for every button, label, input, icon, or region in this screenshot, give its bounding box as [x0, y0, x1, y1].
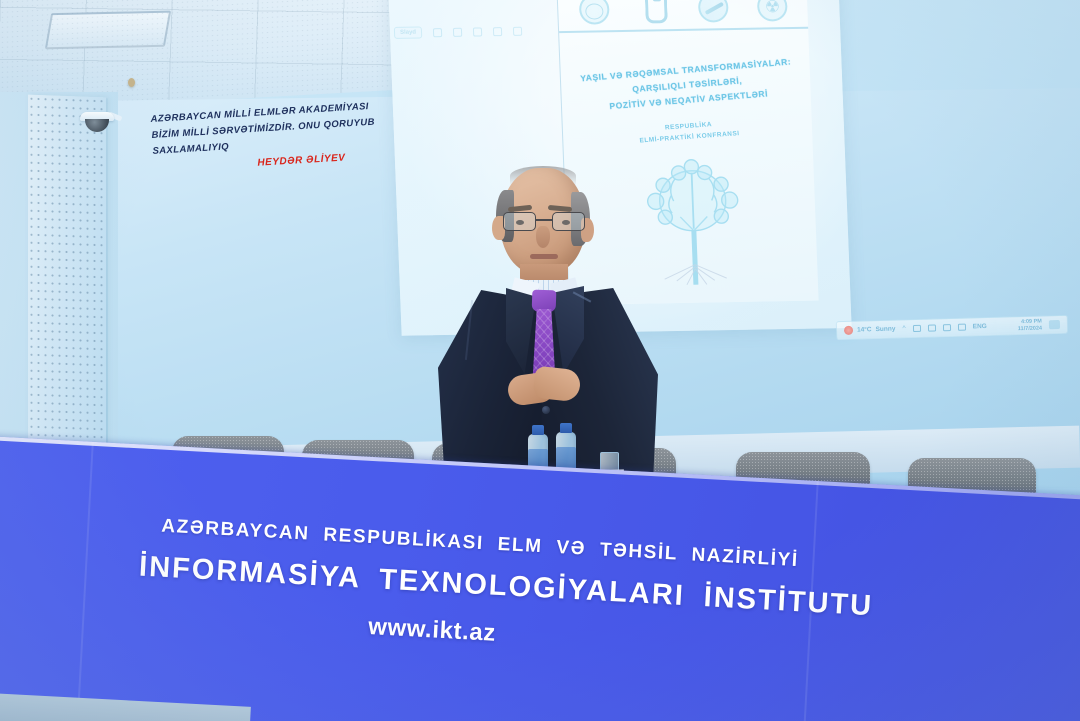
- security-camera-icon: [80, 112, 114, 132]
- wall-quote-heydar-aliyev: AZƏRBAYCAN MİLLİ ELMLƏR AKADEMİYASI BİZİ…: [150, 100, 354, 178]
- globe-emblem-logo: [578, 0, 609, 25]
- radiation-emblem-logo: [757, 0, 788, 22]
- slide-tab[interactable]: Slayd: [394, 26, 422, 38]
- slide-logo-row: [564, 0, 803, 29]
- hand-right: [532, 366, 581, 403]
- volume-icon[interactable]: [958, 324, 966, 331]
- onedrive-icon[interactable]: [913, 325, 921, 332]
- presentation-toolbar[interactable]: Slayd: [390, 20, 531, 44]
- language-indicator[interactable]: ENG: [973, 323, 987, 330]
- clock-date: 11/7/2024: [1018, 325, 1042, 333]
- laser-icon[interactable]: [473, 27, 482, 36]
- compass-emblem-logo: [697, 0, 728, 23]
- banner-website: www.ikt.az: [367, 613, 496, 648]
- chevron-up-icon[interactable]: ^: [902, 325, 905, 332]
- weather-label: Sunny: [875, 326, 895, 334]
- slides-icon[interactable]: [493, 27, 502, 36]
- perforated-acoustic-column: [28, 95, 106, 490]
- battery-icon[interactable]: [943, 324, 951, 331]
- network-icon[interactable]: [928, 324, 936, 331]
- bottle-label: [556, 447, 576, 469]
- clock-time: 4:09 PM: [1018, 318, 1042, 326]
- mouth: [530, 254, 558, 259]
- taskbar-clock[interactable]: 4:09 PM 11/7/2024: [1018, 318, 1043, 333]
- pen-icon[interactable]: [433, 28, 442, 37]
- slide-subtitle: RESPUBLİKA ELMİ-PRAKTİKİ KONFRANSI: [572, 112, 805, 151]
- zoom-icon[interactable]: [513, 26, 522, 35]
- weather-temp: 14°C: [857, 326, 872, 333]
- nose: [536, 226, 550, 248]
- letter-u-logo: [638, 0, 669, 24]
- highlighter-icon[interactable]: [453, 27, 462, 36]
- necktie-knot: [532, 290, 557, 313]
- slide-title: YAŞIL VƏ RƏQƏMSAL TRANSFORMASİYALAR: QAR…: [569, 54, 805, 117]
- weather-widget[interactable]: 14°C Sunny: [844, 325, 896, 335]
- conference-hall-photo: AZƏRBAYCAN MİLLİ ELMLƏR AKADEMİYASI BİZİ…: [0, 0, 1080, 721]
- lens-right: [552, 212, 585, 231]
- camera-dome: [85, 119, 109, 132]
- lens-left: [503, 212, 536, 231]
- speaker-person: [432, 168, 662, 468]
- glasses-bridge: [536, 219, 552, 221]
- weather-sun-icon: [844, 326, 853, 335]
- clasped-hands: [508, 368, 580, 412]
- notification-icon[interactable]: [1049, 320, 1060, 329]
- ceiling-air-vent: [45, 11, 171, 50]
- wall-fixture: [128, 78, 135, 87]
